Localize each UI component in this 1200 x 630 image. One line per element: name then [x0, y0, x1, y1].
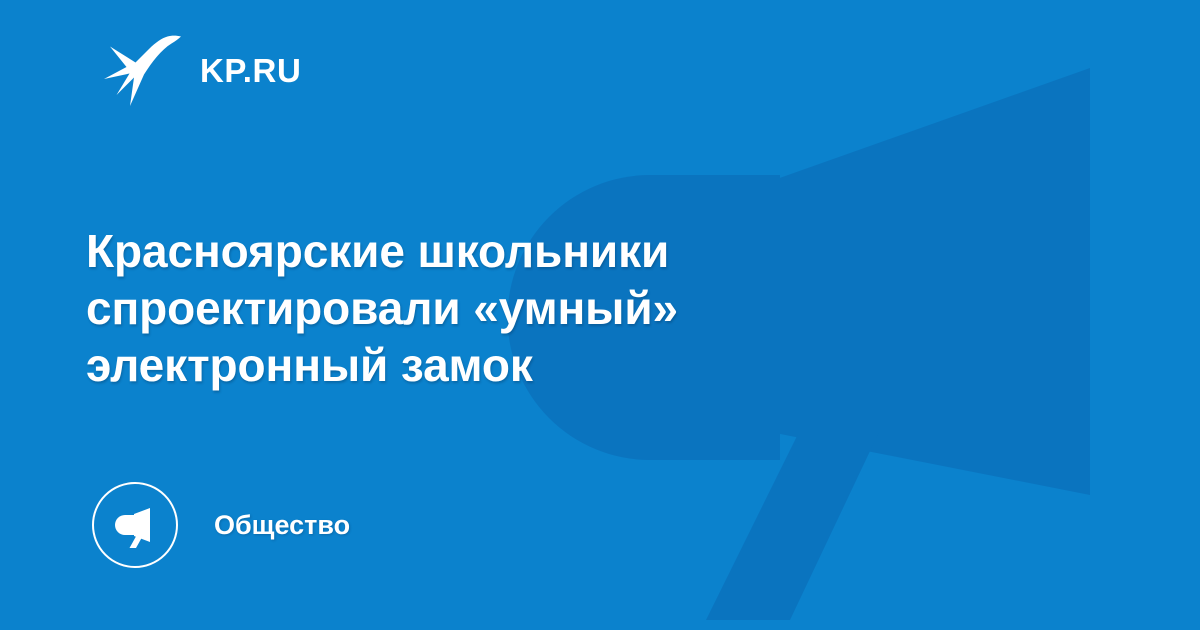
share-card: KP.RU Красноярские школьники спроектиров…	[0, 0, 1200, 630]
brand-name: KP.RU	[200, 54, 301, 87]
headline-line-1: Красноярские школьники	[86, 223, 906, 280]
brand-logo[interactable]: KP.RU	[104, 34, 301, 106]
headline-line-3: электронный замок	[86, 337, 906, 394]
swallow-bird-icon	[104, 34, 182, 106]
category-icon-circle	[92, 482, 178, 568]
megaphone-icon	[112, 502, 158, 548]
headline: Красноярские школьники спроектировали «у…	[86, 223, 906, 394]
category-label: Общество	[214, 512, 350, 539]
category-badge[interactable]: Общество	[92, 482, 350, 568]
headline-line-2: спроектировали «умный»	[86, 280, 906, 337]
